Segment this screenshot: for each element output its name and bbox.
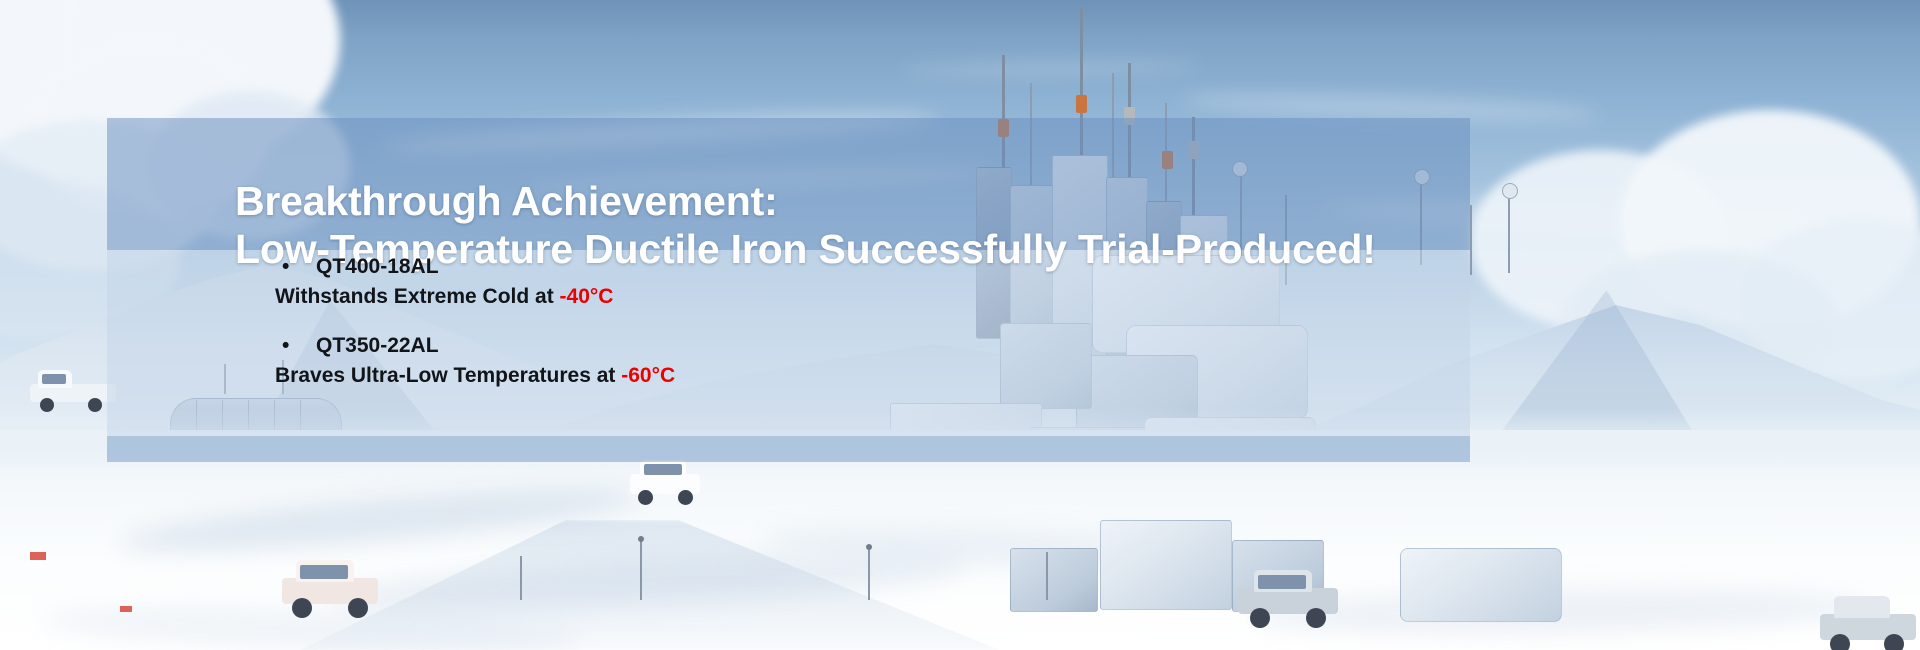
vehicle-wheel	[1306, 608, 1326, 628]
vehicle-wheel	[1884, 634, 1904, 650]
marker-pole	[1046, 552, 1048, 600]
vehicle-window	[1258, 575, 1306, 589]
vehicle-truck	[30, 368, 116, 408]
material-grade-label: QT350-22AL	[316, 335, 439, 356]
vehicle-car	[1820, 596, 1916, 650]
bullet-point-icon: •	[282, 335, 316, 356]
marker-pole-top	[866, 544, 872, 550]
bullet-grade-row: •QT400-18AL	[282, 256, 1382, 277]
feature-list: •QT400-18AL Withstands Extreme Cold at -…	[282, 256, 1382, 386]
bullet-description-text: Withstands Extreme Cold at	[275, 285, 560, 308]
vehicle-window	[42, 374, 66, 384]
flag-marker-icon	[30, 552, 46, 560]
vehicle-window	[644, 464, 682, 475]
facility-building	[1400, 548, 1562, 622]
facility-building	[1010, 548, 1098, 612]
satellite-dish-icon	[1502, 183, 1518, 199]
vehicle-wheel	[638, 490, 653, 505]
vehicle-wheel	[678, 490, 693, 505]
vehicle-window	[300, 565, 348, 579]
marker-pole	[868, 548, 870, 600]
marker-pole-top	[638, 536, 644, 542]
banner-root: Breakthrough Achievement: Low-Temperatur…	[0, 0, 1920, 650]
flag-marker-icon	[120, 606, 132, 612]
vehicle-wheel	[348, 598, 368, 618]
vehicle-wheel	[1830, 634, 1850, 650]
marker-pole	[520, 556, 522, 600]
antenna-mast-icon	[1508, 187, 1510, 273]
antenna-mast-icon	[1470, 205, 1472, 275]
vehicle-wheel	[88, 398, 102, 412]
vehicle-suv	[282, 560, 378, 612]
temperature-value: -40°C	[560, 285, 614, 308]
list-item: •QT400-18AL Withstands Extreme Cold at -…	[282, 256, 1382, 307]
temperature-value: -60°C	[621, 364, 675, 387]
facility-building	[1100, 520, 1232, 610]
list-item: •QT350-22AL Braves Ultra-Low Temperature…	[282, 335, 1382, 386]
vehicle-wheel	[1250, 608, 1270, 628]
overlay-footer-band	[107, 436, 1470, 462]
content-overlay-panel: Breakthrough Achievement: Low-Temperatur…	[107, 118, 1470, 462]
vehicle-suv	[630, 460, 700, 502]
material-grade-label: QT400-18AL	[316, 256, 439, 277]
vehicle-cab	[1834, 596, 1890, 618]
bullet-point-icon: •	[282, 256, 316, 277]
bullet-grade-row: •QT350-22AL	[282, 335, 1382, 356]
bullet-description-text: Braves Ultra-Low Temperatures at	[275, 364, 621, 387]
vehicle-wheel	[40, 398, 54, 412]
bullet-description: Braves Ultra-Low Temperatures at -60°C	[275, 365, 1382, 386]
antenna-node-icon	[1076, 95, 1087, 113]
headline-line-1: Breakthrough Achievement:	[235, 181, 1465, 222]
vehicle-wheel	[292, 598, 312, 618]
vehicle-car	[1238, 570, 1338, 624]
marker-pole	[640, 540, 642, 600]
bullet-description: Withstands Extreme Cold at -40°C	[275, 286, 1382, 307]
